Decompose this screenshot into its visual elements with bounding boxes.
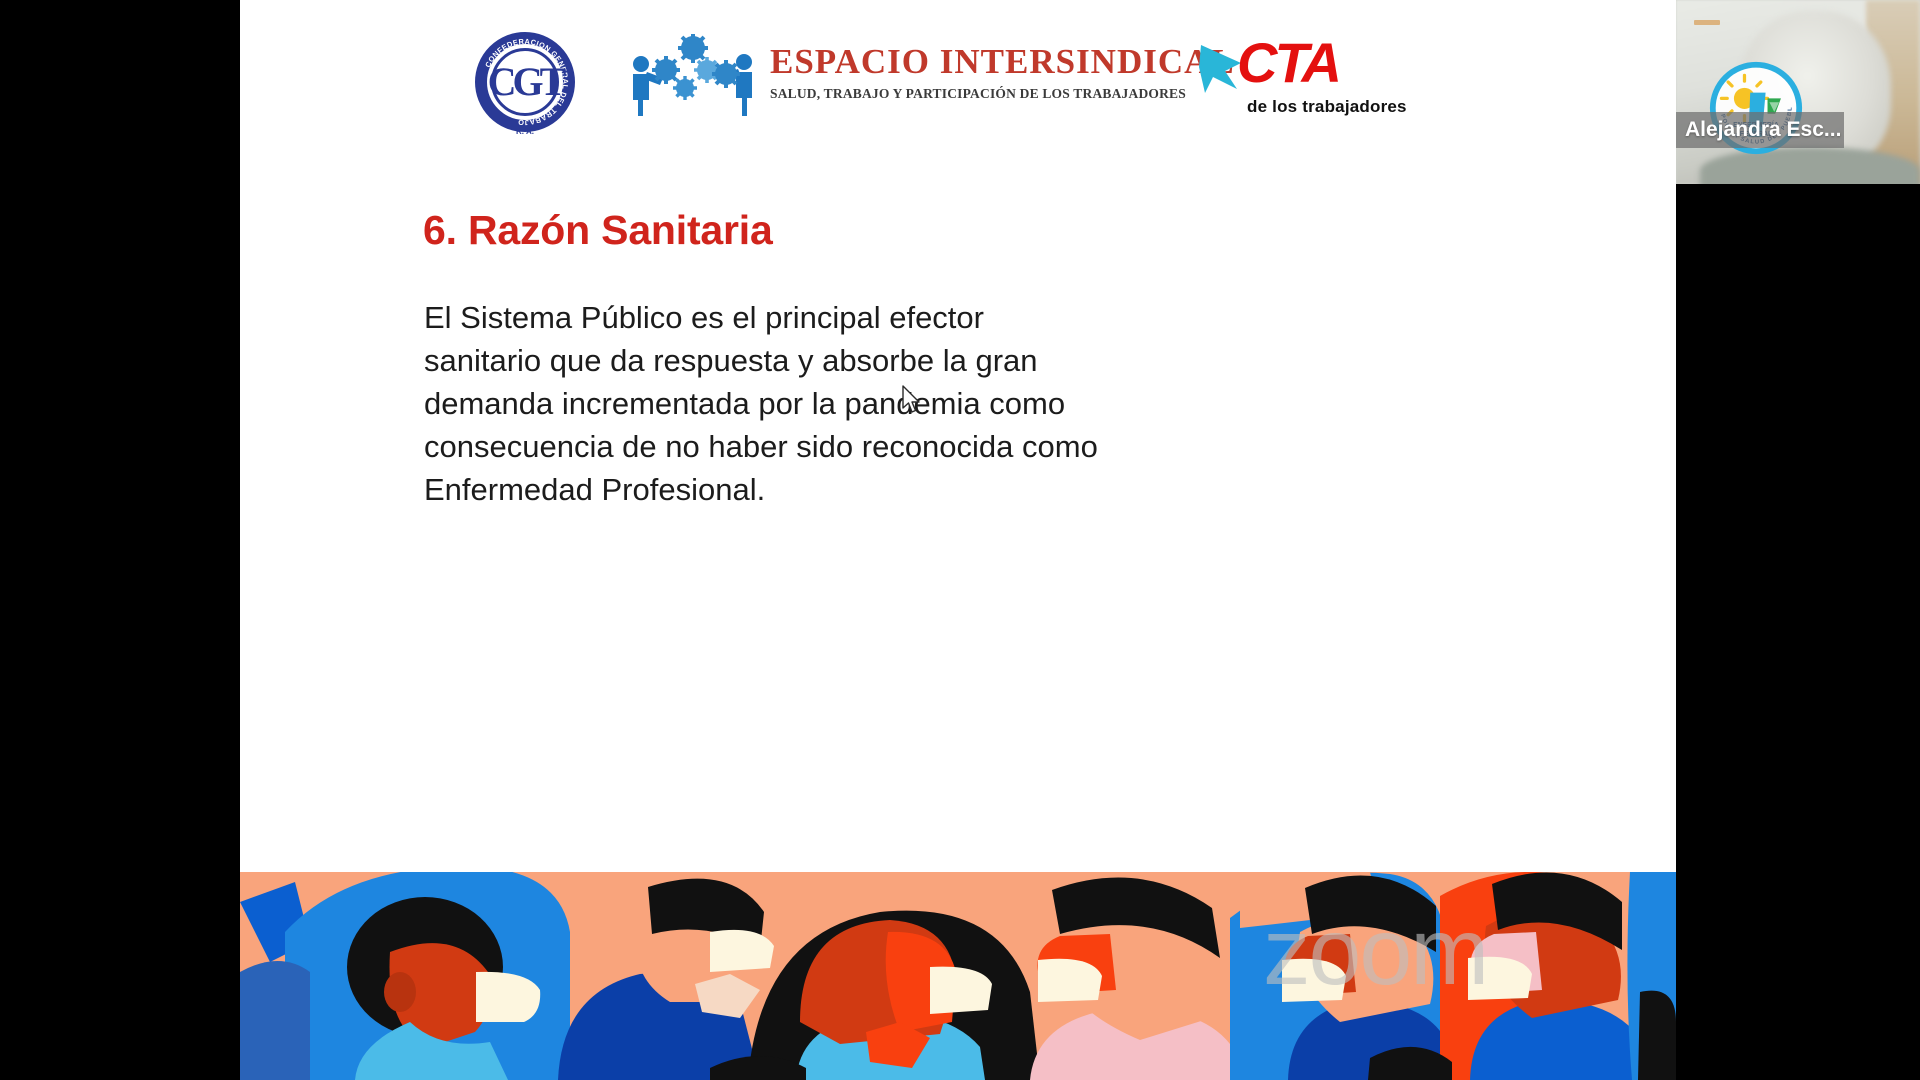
tan-dash-marker (1694, 20, 1720, 25)
participant-name-label: Alejandra Esc... (1676, 112, 1844, 148)
cta-subtitle: de los trabajadores (1247, 97, 1407, 117)
mouse-cursor-icon (901, 385, 923, 415)
cta-letters: CTA (1237, 35, 1339, 91)
cta-logo: CTA de los trabajadores (1195, 35, 1425, 130)
crowd-illustration-art (240, 872, 1676, 1080)
cgt-logo: CONFEDERACION GENERAL DEL TRABAJO CGT R.… (475, 32, 575, 132)
espacio-subtitle: SALUD, TRABAJO Y PARTICIPACIÓN DE LOS TR… (770, 86, 1180, 102)
slide-logo-strip: CONFEDERACION GENERAL DEL TRABAJO CGT R.… (240, 0, 1676, 160)
participant-name-text: Alejandra Esc... (1685, 118, 1841, 142)
slide-title: 6. Razón Sanitaria (423, 207, 773, 254)
zoom-meeting-stage: CONFEDERACION GENERAL DEL TRABAJO CGT R.… (0, 0, 1920, 1080)
masked-crowd-illustration (240, 872, 1676, 1080)
cgt-footer-text: R. A. (475, 127, 575, 136)
participant-video-tile[interactable]: ENFERMERÍA FEDERAL POR LA SALUD DEL PUEB… (1676, 0, 1920, 184)
cgt-letters: CGT (488, 62, 563, 102)
espacio-intersindical-logo: ESPACIO INTERSINDICAL SALUD, TRABAJO Y P… (625, 24, 1185, 134)
espacio-text-block: ESPACIO INTERSINDICAL SALUD, TRABAJO Y P… (770, 44, 1180, 102)
shared-slide: CONFEDERACION GENERAL DEL TRABAJO CGT R.… (240, 0, 1676, 1080)
slide-body-text: El Sistema Público es el principal efect… (424, 296, 1104, 511)
espacio-title: ESPACIO INTERSINDICAL (770, 44, 1180, 79)
cgt-inner-disc: CGT (491, 48, 559, 116)
workers-gears-icon (625, 34, 760, 119)
